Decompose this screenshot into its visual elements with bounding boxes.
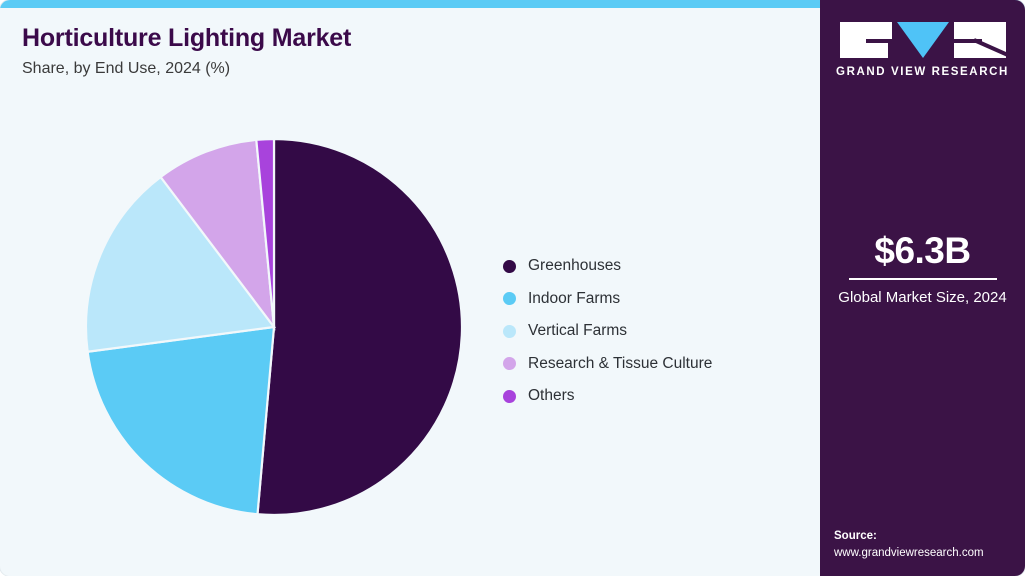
logo-wordmark: GRAND VIEW RESEARCH (820, 66, 1025, 78)
stat-divider (849, 278, 997, 280)
legend-label: Others (528, 387, 575, 405)
logo-marks (820, 22, 1025, 58)
legend-label: Vertical Farms (528, 322, 627, 340)
chart-card: Horticulture Lighting Market Share, by E… (0, 0, 1025, 576)
legend-item: Research & Tissue Culture (503, 348, 712, 381)
legend-item: Indoor Farms (503, 283, 712, 316)
legend-swatch-icon (503, 357, 516, 370)
source-label: Source: (834, 528, 1025, 545)
source-url[interactable]: www.grandviewresearch.com (834, 545, 1025, 562)
brand-sidebar: GRAND VIEW RESEARCH $6.3B Global Market … (820, 0, 1025, 576)
legend-item: Vertical Farms (503, 315, 712, 348)
legend-swatch-icon (503, 292, 516, 305)
legend-label: Greenhouses (528, 257, 621, 275)
stat-caption: Global Market Size, 2024 (820, 288, 1025, 308)
legend-swatch-icon (503, 390, 516, 403)
logo-r-icon (954, 22, 1006, 58)
logo-v-triangle-icon (897, 22, 949, 58)
pie-slice (257, 139, 462, 515)
chart-legend: GreenhousesIndoor FarmsVertical FarmsRes… (503, 250, 712, 413)
pie-slice (88, 327, 274, 514)
plot-area: GreenhousesIndoor FarmsVertical FarmsRes… (0, 0, 820, 576)
source-block: Source: www.grandviewresearch.com (820, 528, 1025, 563)
legend-label: Indoor Farms (528, 290, 620, 308)
legend-item: Greenhouses (503, 250, 712, 283)
stat-value: $6.3B (820, 232, 1025, 269)
legend-swatch-icon (503, 325, 516, 338)
market-size-stat: $6.3B Global Market Size, 2024 (820, 232, 1025, 308)
legend-label: Research & Tissue Culture (528, 355, 712, 373)
legend-item: Others (503, 380, 712, 413)
grand-view-research-logo: GRAND VIEW RESEARCH (820, 22, 1025, 78)
legend-swatch-icon (503, 260, 516, 273)
logo-g-icon (840, 22, 892, 58)
